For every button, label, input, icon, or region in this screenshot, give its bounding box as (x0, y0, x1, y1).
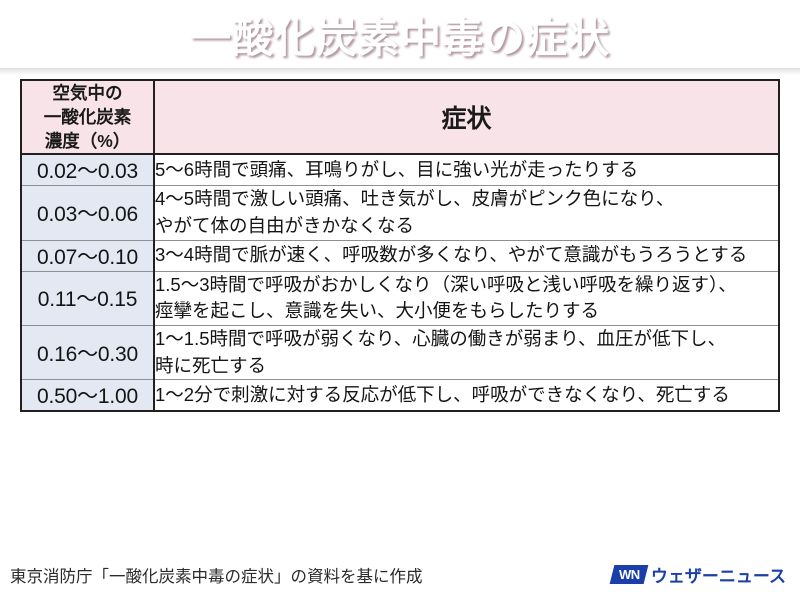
symptom-value: 1〜2分で刺激に対する反応が低下し、呼吸ができなくなり、死亡する (154, 380, 778, 411)
concentration-value: 0.02〜0.03 (22, 154, 154, 186)
symptoms-table: 空気中の 一酸化炭素 濃度（%） 症状 0.02〜0.03 5〜6時間で頭痛、耳… (22, 81, 778, 410)
concentration-header-line-2: 一酸化炭素 (22, 105, 153, 129)
symptom-line: 痙攣を起こし、意識を失い、大小便をもらしたりする (155, 298, 778, 325)
concentration-header-line-3: 濃度（%） (22, 129, 153, 153)
symptom-line: 1.5〜3時間で呼吸がおかしくなり（深い呼吸と浅い呼吸を繰り返す）、 (155, 272, 778, 299)
footer: 東京消防庁「一酸化炭素中毒の症状」の資料を基に作成 WN ウェザーニュース (0, 560, 800, 600)
symptom-value: 4〜5時間で激しい頭痛、吐き気がし、皮膚がピンク色になり、 やがて体の自由がきか… (154, 186, 778, 240)
concentration-header-line-1: 空気中の (22, 81, 153, 105)
title-banner: 一酸化炭素中毒の症状 (0, 0, 800, 68)
symptom-line: やがて体の自由がきかなくなる (155, 213, 778, 240)
concentration-value: 0.07〜0.10 (22, 240, 154, 271)
concentration-value: 0.16〜0.30 (22, 325, 154, 379)
wn-logo-text: WN (619, 568, 640, 581)
symptom-line: 1〜2分で刺激に対する反応が低下し、呼吸ができなくなり、死亡する (155, 382, 778, 409)
symptoms-table-container: 空気中の 一酸化炭素 濃度（%） 症状 0.02〜0.03 5〜6時間で頭痛、耳… (20, 79, 780, 412)
table-row: 0.03〜0.06 4〜5時間で激しい頭痛、吐き気がし、皮膚がピンク色になり、 … (22, 186, 778, 240)
symptom-value: 3〜4時間で脈が速く、呼吸数が多くなり、やがて意識がもうろうとする (154, 240, 778, 271)
table-header-row: 空気中の 一酸化炭素 濃度（%） 症状 (22, 81, 778, 154)
wn-logo-icon: WN (609, 565, 648, 584)
table-body: 0.02〜0.03 5〜6時間で頭痛、耳鳴りがし、目に強い光が走ったりする 0.… (22, 154, 778, 410)
concentration-value: 0.11〜0.15 (22, 271, 154, 325)
symptom-line: 5〜6時間で頭痛、耳鳴りがし、目に強い光が走ったりする (155, 157, 778, 184)
symptom-value: 1.5〜3時間で呼吸がおかしくなり（深い呼吸と浅い呼吸を繰り返す）、 痙攣を起こ… (154, 271, 778, 325)
symptom-line: 1〜1.5時間で呼吸が弱くなり、心臓の働きが弱まり、血圧が低下し、 (155, 326, 778, 353)
source-credit: 東京消防庁「一酸化炭素中毒の症状」の資料を基に作成 (10, 563, 423, 587)
table-row: 0.16〜0.30 1〜1.5時間で呼吸が弱くなり、心臓の働きが弱まり、血圧が低… (22, 325, 778, 379)
page-title: 一酸化炭素中毒の症状 (0, 0, 800, 68)
column-header-concentration: 空気中の 一酸化炭素 濃度（%） (22, 81, 154, 154)
symptom-line: 4〜5時間で激しい頭痛、吐き気がし、皮膚がピンク色になり、 (155, 186, 778, 213)
symptom-value: 1〜1.5時間で呼吸が弱くなり、心臓の働きが弱まり、血圧が低下し、 時に死亡する (154, 325, 778, 379)
weathernews-logo: WN ウェザーニュース (612, 562, 786, 587)
table-row: 0.02〜0.03 5〜6時間で頭痛、耳鳴りがし、目に強い光が走ったりする (22, 154, 778, 186)
table-row: 0.07〜0.10 3〜4時間で脈が速く、呼吸数が多くなり、やがて意識がもうろう… (22, 240, 778, 271)
table-header: 空気中の 一酸化炭素 濃度（%） 症状 (22, 81, 778, 154)
banner-drop-shadow (0, 68, 800, 75)
table-row: 0.50〜1.00 1〜2分で刺激に対する反応が低下し、呼吸ができなくなり、死亡… (22, 380, 778, 411)
concentration-value: 0.03〜0.06 (22, 186, 154, 240)
symptom-line: 3〜4時間で脈が速く、呼吸数が多くなり、やがて意識がもうろうとする (155, 242, 778, 269)
concentration-value: 0.50〜1.00 (22, 380, 154, 411)
brand-name: ウェザーニュース (651, 562, 786, 587)
table-row: 0.11〜0.15 1.5〜3時間で呼吸がおかしくなり（深い呼吸と浅い呼吸を繰り… (22, 271, 778, 325)
symptom-value: 5〜6時間で頭痛、耳鳴りがし、目に強い光が走ったりする (154, 154, 778, 186)
column-header-symptom: 症状 (154, 81, 778, 154)
symptom-line: 時に死亡する (155, 353, 778, 380)
